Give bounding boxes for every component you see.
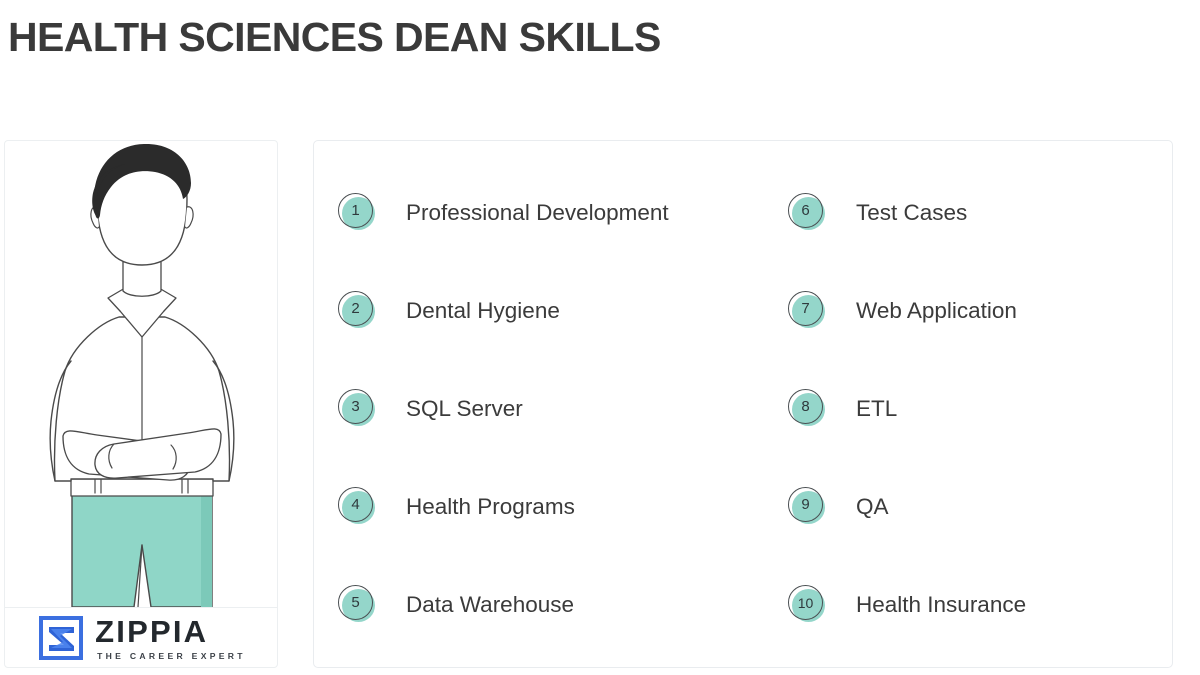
skill-label: Dental Hygiene <box>406 298 560 324</box>
skills-column-left: 1 Professional Development 2 Dental Hygi… <box>314 141 744 669</box>
skill-label: ETL <box>856 396 897 422</box>
skill-number-badge: 10 <box>787 584 829 626</box>
skill-number-badge: 8 <box>787 388 829 430</box>
skill-label: Test Cases <box>856 200 967 226</box>
list-item[interactable]: 4 Health Programs <box>337 487 575 527</box>
list-item[interactable]: 10 Health Insurance <box>787 585 1026 625</box>
badge-number: 6 <box>788 193 823 228</box>
list-item[interactable]: 7 Web Application <box>787 291 1017 331</box>
badge-number: 1 <box>338 193 373 228</box>
list-item[interactable]: 8 ETL <box>787 389 897 429</box>
skills-panel: 1 Professional Development 2 Dental Hygi… <box>313 140 1173 668</box>
list-item[interactable]: 2 Dental Hygiene <box>337 291 560 331</box>
skill-label: Health Programs <box>406 494 575 520</box>
skill-number-badge: 1 <box>337 192 379 234</box>
zippia-logo: ZIPPIA THE CAREER EXPERT <box>5 608 278 668</box>
zippia-tagline: THE CAREER EXPERT <box>97 652 246 661</box>
skill-label: SQL Server <box>406 396 523 422</box>
list-item[interactable]: 9 QA <box>787 487 889 527</box>
skill-number-badge: 9 <box>787 486 829 528</box>
skill-label: Health Insurance <box>856 592 1026 618</box>
list-item[interactable]: 3 SQL Server <box>337 389 523 429</box>
list-item[interactable]: 6 Test Cases <box>787 193 967 233</box>
zippia-wordmark: ZIPPIA <box>95 616 246 647</box>
skill-number-badge: 5 <box>337 584 379 626</box>
skill-number-badge: 7 <box>787 290 829 332</box>
page-title: HEALTH SCIENCES DEAN SKILLS <box>8 14 661 61</box>
skill-number-badge: 4 <box>337 486 379 528</box>
badge-number: 4 <box>338 487 373 522</box>
skill-number-badge: 3 <box>337 388 379 430</box>
list-item[interactable]: 5 Data Warehouse <box>337 585 574 625</box>
badge-number: 2 <box>338 291 373 326</box>
skills-column-right: 6 Test Cases 7 Web Application <box>764 141 1194 669</box>
badge-number: 9 <box>788 487 823 522</box>
illustration-panel: ZIPPIA THE CAREER EXPERT <box>4 140 278 668</box>
skill-label: QA <box>856 494 889 520</box>
skill-label: Web Application <box>856 298 1017 324</box>
zippia-z-mark-icon <box>38 615 84 661</box>
infographic-page: HEALTH SCIENCES DEAN SKILLS <box>0 0 1200 675</box>
badge-number: 7 <box>788 291 823 326</box>
skill-number-badge: 2 <box>337 290 379 332</box>
list-item[interactable]: 1 Professional Development <box>337 193 669 233</box>
person-arms-crossed-icon <box>5 141 278 607</box>
skill-label: Data Warehouse <box>406 592 574 618</box>
badge-number: 5 <box>338 585 373 620</box>
skill-label: Professional Development <box>406 200 669 226</box>
skills-grid: 1 Professional Development 2 Dental Hygi… <box>314 141 1174 669</box>
skill-number-badge: 6 <box>787 192 829 234</box>
person-illustration <box>5 141 278 607</box>
badge-number: 8 <box>788 389 823 424</box>
badge-number: 10 <box>788 585 823 620</box>
badge-number: 3 <box>338 389 373 424</box>
